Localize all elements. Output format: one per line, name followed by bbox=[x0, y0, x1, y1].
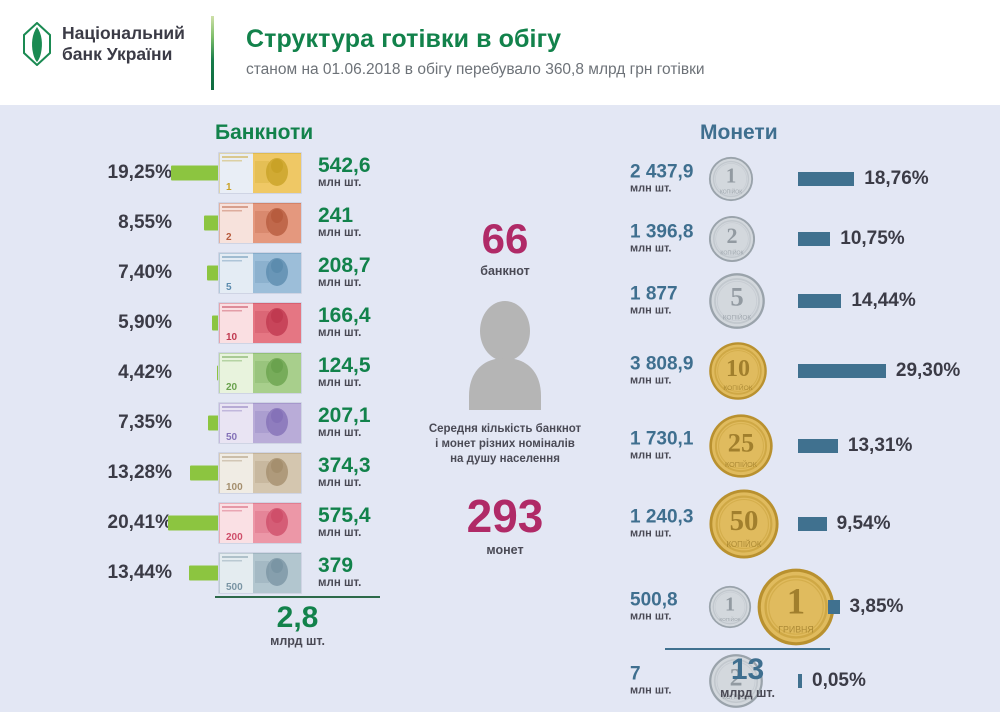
page-header: Національнийбанк України Структура готів… bbox=[0, 0, 1000, 105]
coin-count-value: 500,8 bbox=[630, 590, 678, 609]
coin-count: 3 808,9млн шт. bbox=[630, 354, 693, 386]
per-capita-caption: Середня кількість банкнот і монет різних… bbox=[400, 422, 610, 467]
banknote-percent: 19,25% bbox=[108, 162, 172, 184]
banknote-count-unit: млн шт. bbox=[318, 428, 371, 440]
banknote-image-1: 1 bbox=[218, 152, 302, 194]
coin-row: 1 240,3млн шт.50КОПІЙОК9,54% bbox=[620, 484, 1000, 564]
avg-banknotes-label: банкнот bbox=[400, 264, 610, 278]
coin-icon-1: 1КОПІЙОК bbox=[708, 156, 754, 202]
coin-percent: 14,44% bbox=[851, 290, 915, 312]
banknote-percent: 7,40% bbox=[118, 262, 172, 284]
banknote-count: 542,6млн шт. bbox=[318, 155, 371, 190]
banknote-row: 13,28%100374,3млн шт. bbox=[60, 448, 390, 498]
banknote-row: 20,41%200575,4млн шт. bbox=[60, 498, 390, 548]
coins-total: 13 млрд шт. bbox=[665, 654, 830, 700]
title-block: Структура готівки в обігу станом на 01.0… bbox=[246, 25, 705, 79]
avg-coins-label: монет bbox=[400, 543, 610, 557]
banknotes-chart: 19,25%1542,6млн шт.8,55%2241млн шт.7,40%… bbox=[60, 148, 390, 598]
banknote-count-value: 166,4 bbox=[318, 305, 371, 326]
svg-text:1: 1 bbox=[226, 182, 232, 193]
avg-banknotes-value: 66 bbox=[400, 218, 610, 260]
banknote-image-500: 500 bbox=[218, 552, 302, 594]
coin-bar bbox=[798, 364, 886, 378]
banknote-count-value: 124,5 bbox=[318, 355, 371, 376]
coin-count: 2 437,9млн шт. bbox=[630, 162, 693, 194]
coin-count-unit: млн шт. bbox=[630, 528, 693, 539]
svg-text:2: 2 bbox=[726, 223, 737, 248]
banknote-count: 374,3млн шт. bbox=[318, 455, 371, 490]
page-subtitle: станом на 01.06.2018 в обігу перебувало … bbox=[246, 61, 705, 79]
svg-text:25: 25 bbox=[728, 427, 754, 457]
banknote-percent: 5,90% bbox=[118, 312, 172, 334]
banknote-count-unit: млн шт. bbox=[318, 228, 361, 240]
logo-line-2: банк України bbox=[62, 44, 172, 64]
coin-bar bbox=[828, 600, 840, 614]
coin-count-value: 3 808,9 bbox=[630, 354, 693, 373]
svg-text:10: 10 bbox=[726, 356, 750, 382]
logo-line-1: Національний bbox=[62, 23, 185, 43]
coins-section-heading: Монети bbox=[700, 121, 778, 145]
banknote-count-value: 542,6 bbox=[318, 155, 371, 176]
avg-coins-value: 293 bbox=[400, 493, 610, 539]
banknote-count: 379млн шт. bbox=[318, 555, 361, 590]
coin-percent: 10,75% bbox=[840, 228, 904, 250]
svg-text:50: 50 bbox=[730, 505, 759, 537]
coin-count-value: 1 240,3 bbox=[630, 507, 693, 526]
svg-text:5: 5 bbox=[730, 282, 743, 312]
banknote-count-unit: млн шт. bbox=[318, 528, 371, 540]
coin-count-unit: млн шт. bbox=[630, 243, 693, 254]
svg-text:50: 50 bbox=[226, 432, 238, 443]
svg-text:100: 100 bbox=[226, 482, 243, 493]
coin-row: 2 437,9млн шт.1КОПІЙОК18,76% bbox=[620, 148, 1000, 210]
banknotes-total: 2,8 млрд шт. bbox=[215, 602, 380, 648]
banknote-count-unit: млн шт. bbox=[318, 328, 371, 340]
banknote-image-200: 200 bbox=[218, 502, 302, 544]
coin-row: 1 396,8млн шт.2КОПІЙОК10,75% bbox=[620, 210, 1000, 268]
coins-total-rule bbox=[665, 648, 830, 650]
banknote-count: 241млн шт. bbox=[318, 205, 361, 240]
coin-count-unit: млн шт. bbox=[630, 611, 678, 622]
banknote-image-50: 50 bbox=[218, 402, 302, 444]
coin-count: 500,8млн шт. bbox=[630, 590, 678, 622]
coin-image-50-коп: 50КОПІЙОК bbox=[708, 488, 780, 560]
person-silhouette-icon bbox=[459, 300, 551, 410]
coin-bar bbox=[798, 232, 830, 246]
banknote-count: 166,4млн шт. bbox=[318, 305, 371, 340]
banknote-count-unit: млн шт. bbox=[318, 478, 371, 490]
coin-image-25-коп: 25КОПІЙОК bbox=[708, 413, 774, 479]
coin-bar bbox=[798, 439, 838, 453]
banknote-percent: 20,41% bbox=[108, 512, 172, 534]
banknote-count-value: 208,7 bbox=[318, 255, 371, 276]
coin-count-value: 1 877 bbox=[630, 284, 678, 303]
svg-text:2: 2 bbox=[226, 232, 232, 243]
coin-count-value: 1 396,8 bbox=[630, 222, 693, 241]
banknote-count: 208,7млн шт. bbox=[318, 255, 371, 290]
svg-text:1: 1 bbox=[726, 164, 737, 188]
banknote-count-value: 379 bbox=[318, 555, 361, 576]
avg-coins-block: 293 монет bbox=[400, 493, 610, 557]
banknote-count-unit: млн шт. bbox=[318, 378, 371, 390]
coins-total-unit: млрд шт. bbox=[665, 686, 830, 700]
banknotes-section-heading: Банкноти bbox=[215, 121, 313, 145]
coin-count-unit: млн шт. bbox=[630, 305, 678, 316]
coin-count-unit: млн шт. bbox=[630, 450, 693, 461]
banknote-count-unit: млн шт. bbox=[318, 578, 361, 590]
nbu-logo: Національнийбанк України bbox=[22, 22, 185, 66]
coin-bar bbox=[798, 172, 854, 186]
coin-image-1-грн: 1КОПІЙОК1ГРИВНЯ bbox=[708, 567, 836, 647]
coins-chart: 2 437,9млн шт.1КОПІЙОК18,76%1 396,8млн ш… bbox=[620, 148, 1000, 712]
svg-text:500: 500 bbox=[226, 582, 243, 593]
coin-count: 1 877млн шт. bbox=[630, 284, 678, 316]
banknote-image-5: 5 bbox=[218, 252, 302, 294]
coin-row: 1 730,1млн шт.25КОПІЙОК13,31% bbox=[620, 408, 1000, 484]
coins-total-value: 13 bbox=[665, 654, 830, 686]
banknote-percent: 7,35% bbox=[118, 412, 172, 434]
coin-icon-25: 25КОПІЙОК bbox=[708, 413, 774, 479]
coin-percent: 18,76% bbox=[864, 168, 928, 190]
coin-count: 1 240,3млн шт. bbox=[630, 507, 693, 539]
banknote-row: 5,90%10166,4млн шт. bbox=[60, 298, 390, 348]
coin-bar bbox=[798, 517, 827, 531]
coin-icon-2: 2КОПІЙОК bbox=[708, 215, 756, 263]
banknote-image-2: 2 bbox=[218, 202, 302, 244]
banknote-count-value: 374,3 bbox=[318, 455, 371, 476]
banknote-count: 124,5млн шт. bbox=[318, 355, 371, 390]
banknotes-total-rule bbox=[215, 596, 380, 598]
page-title: Структура готівки в обігу bbox=[246, 25, 705, 54]
coin-image-10-коп: 10КОПІЙОК bbox=[708, 341, 768, 401]
banknote-percent: 8,55% bbox=[118, 212, 172, 234]
coin-image-2-коп: 2КОПІЙОК bbox=[708, 215, 756, 263]
banknote-count: 575,4млн шт. bbox=[318, 505, 371, 540]
banknote-count: 207,1млн шт. bbox=[318, 405, 371, 440]
banknote-percent: 13,28% bbox=[108, 462, 172, 484]
header-divider bbox=[211, 16, 214, 90]
banknote-image-10: 10 bbox=[218, 302, 302, 344]
svg-text:КОПІЙОК: КОПІЙОК bbox=[727, 540, 762, 549]
coin-row: 1 877млн шт.5КОПІЙОК14,44% bbox=[620, 268, 1000, 334]
coin-icon-1: 1ГРИВНЯ bbox=[756, 567, 836, 647]
coin-percent: 9,54% bbox=[837, 513, 891, 535]
banknotes-total-value: 2,8 bbox=[215, 602, 380, 634]
banknote-row: 7,35%50207,1млн шт. bbox=[60, 398, 390, 448]
banknotes-total-unit: млрд шт. bbox=[215, 634, 380, 648]
coin-percent: 3,85% bbox=[850, 596, 904, 618]
banknote-count-value: 575,4 bbox=[318, 505, 371, 526]
coin-icon-10: 10КОПІЙОК bbox=[708, 341, 768, 401]
banknote-row: 13,44%500379млн шт. bbox=[60, 548, 390, 598]
per-capita-panel: 66 банкнот Середня кількість банкнот і м… bbox=[400, 218, 610, 557]
coin-count-unit: млн шт. bbox=[630, 375, 693, 386]
banknote-row: 8,55%2241млн шт. bbox=[60, 198, 390, 248]
coin-image-5-коп: 5КОПІЙОК bbox=[708, 272, 766, 330]
coin-icon-5: 5КОПІЙОК bbox=[708, 272, 766, 330]
banknote-image-100: 100 bbox=[218, 452, 302, 494]
banknote-count-unit: млн шт. bbox=[318, 278, 371, 290]
svg-text:5: 5 bbox=[226, 282, 232, 293]
svg-text:1: 1 bbox=[787, 580, 805, 621]
nbu-logo-text: Національнийбанк України bbox=[62, 23, 185, 65]
coin-icon-50: 50КОПІЙОК bbox=[708, 488, 780, 560]
banknote-row: 19,25%1542,6млн шт. bbox=[60, 148, 390, 198]
coin-count: 1 396,8млн шт. bbox=[630, 222, 693, 254]
svg-text:200: 200 bbox=[226, 532, 243, 543]
svg-text:1: 1 bbox=[725, 594, 735, 616]
banknote-row: 4,42%20124,5млн шт. bbox=[60, 348, 390, 398]
svg-text:20: 20 bbox=[226, 382, 238, 393]
coin-row: 3 808,9млн шт.10КОПІЙОК29,30% bbox=[620, 334, 1000, 408]
coin-count: 1 730,1млн шт. bbox=[630, 429, 693, 461]
banknote-count-value: 207,1 bbox=[318, 405, 371, 426]
coin-image-1-коп: 1КОПІЙОК bbox=[708, 156, 754, 202]
banknote-image-20: 20 bbox=[218, 352, 302, 394]
coin-count-unit: млн шт. bbox=[630, 183, 693, 194]
svg-text:10: 10 bbox=[226, 332, 238, 343]
svg-text:ГРИВНЯ: ГРИВНЯ bbox=[778, 625, 814, 635]
coin-row: 500,8млн шт.1КОПІЙОК1ГРИВНЯ3,85% bbox=[620, 564, 1000, 650]
coin-percent: 29,30% bbox=[896, 360, 960, 382]
banknote-percent: 13,44% bbox=[108, 562, 172, 584]
coin-icon-1: 1КОПІЙОК bbox=[708, 585, 752, 629]
coin-bar bbox=[798, 294, 841, 308]
nbu-leaf-logo-icon bbox=[22, 22, 52, 66]
banknote-row: 7,40%5208,7млн шт. bbox=[60, 248, 390, 298]
coin-percent: 13,31% bbox=[848, 435, 912, 457]
coin-count-value: 2 437,9 bbox=[630, 162, 693, 181]
banknote-count-value: 241 bbox=[318, 205, 361, 226]
svg-text:КОПІЙОК: КОПІЙОК bbox=[725, 460, 758, 469]
coin-count-value: 1 730,1 bbox=[630, 429, 693, 448]
banknote-percent: 4,42% bbox=[118, 362, 172, 384]
banknote-count-unit: млн шт. bbox=[318, 178, 371, 190]
